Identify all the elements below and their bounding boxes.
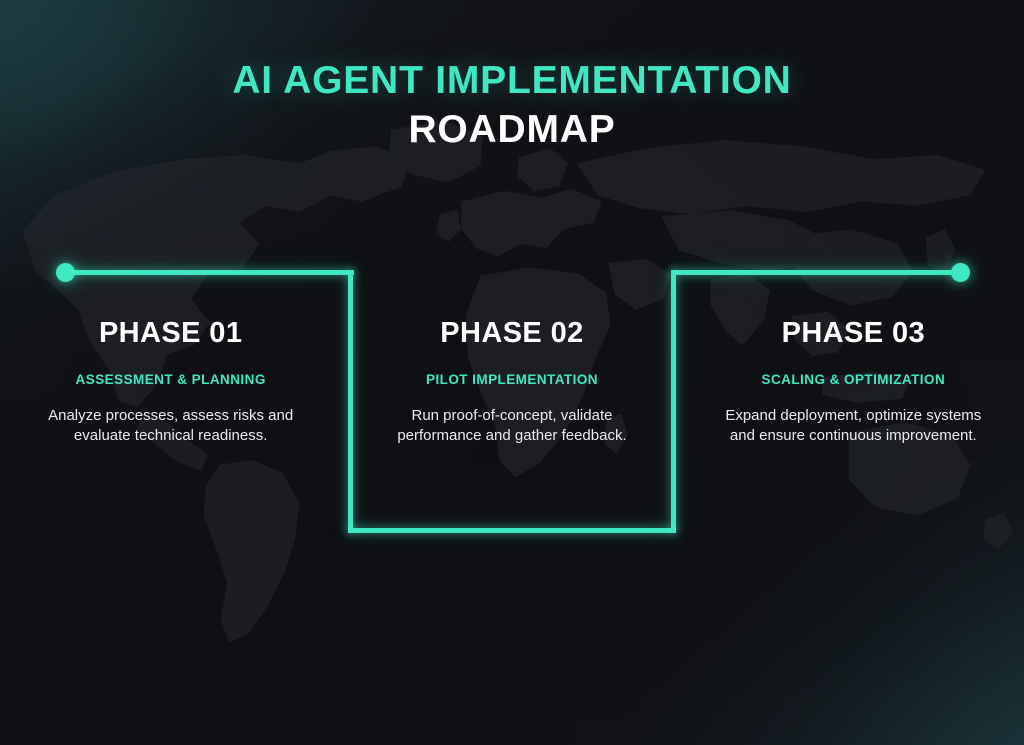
title-line-secondary: ROADMAP xyxy=(0,109,1024,151)
phase-card-02: PHASE 02 PILOT IMPLEMENTATION Run proof-… xyxy=(341,318,682,446)
phase-03-description: Expand deployment, optimize systems and … xyxy=(722,406,984,446)
roadmap-poster: AI AGENT IMPLEMENTATION ROADMAP PHASE 01… xyxy=(0,0,1024,745)
phase-01-description: Analyze processes, assess risks and eval… xyxy=(37,406,305,446)
phase-03-subtitle: SCALING & OPTIMIZATION xyxy=(705,372,1002,388)
phase-02-title: PHASE 02 xyxy=(363,318,660,350)
phase-list: PHASE 01 ASSESSMENT & PLANNING Analyze p… xyxy=(0,318,1024,446)
title-line-primary: AI AGENT IMPLEMENTATION xyxy=(0,60,1024,102)
page-title: AI AGENT IMPLEMENTATION ROADMAP xyxy=(0,60,1024,151)
phase-03-title: PHASE 03 xyxy=(705,318,1002,350)
phase-card-03: PHASE 03 SCALING & OPTIMIZATION Expand d… xyxy=(683,318,1024,446)
phase-01-title: PHASE 01 xyxy=(22,318,319,350)
phase-01-subtitle: ASSESSMENT & PLANNING xyxy=(22,372,319,388)
phase-card-01: PHASE 01 ASSESSMENT & PLANNING Analyze p… xyxy=(0,318,341,446)
phase-02-description: Run proof-of-concept, validate performan… xyxy=(392,406,632,446)
phase-02-subtitle: PILOT IMPLEMENTATION xyxy=(363,372,660,388)
